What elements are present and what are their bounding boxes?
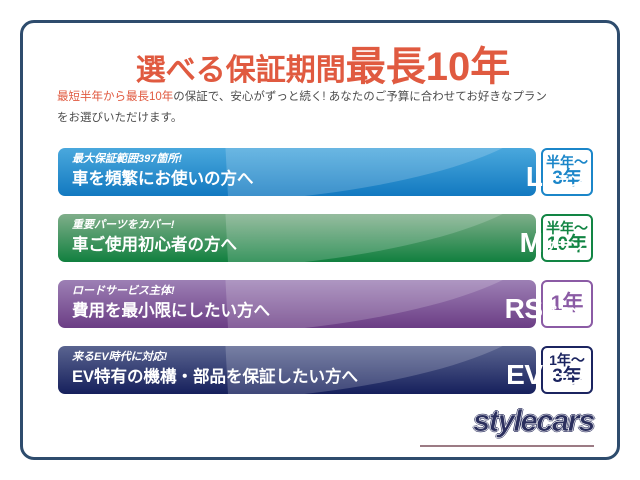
plan-code-l: L (526, 161, 543, 192)
plan-kana-ev: プラン (543, 371, 584, 387)
plan-subtitle-l: 最大保証範囲397箇所! (72, 152, 254, 168)
plan-sweep-rs (224, 280, 536, 328)
plan-text-group-rs: ロードサービス主体! 費用を最小限にしたい方へ (72, 284, 270, 324)
plan-code-ev: EV (506, 359, 542, 390)
plan-row-rs[interactable]: ロードサービス主体! 費用を最小限にしたい方へ RSプラン 1年 (58, 280, 593, 328)
plan-code-group-m: Mプラン (520, 227, 583, 259)
plan-code-group-rs: RSプラン (505, 293, 583, 325)
plan-headline-ev: EV特有の機構・部品を保証したい方へ (72, 366, 358, 390)
plan-text-group-m: 重要パーツをカバー! 車ご使用初心者の方へ (72, 218, 237, 258)
brand-logo-text: stylecars (473, 403, 594, 439)
plan-headline-rs: 費用を最小限にしたい方へ (72, 300, 270, 324)
brand-logo-rule (420, 445, 594, 447)
lead-line2: をお選びいただけます。 (57, 112, 182, 124)
plan-list: 最大保証範囲397箇所! 車を頻繁にお使いの方へ Lプラン 半年〜 3年 重要パ… (58, 148, 593, 412)
lead-paragraph: 最短半年から最長10年の保証で、安心がずっと続く! あなたのご予算に合わせてお好… (57, 87, 597, 130)
plan-row-l[interactable]: 最大保証範囲397箇所! 車を頻繁にお使いの方へ Lプラン 半年〜 3年 (58, 148, 593, 196)
plan-subtitle-ev: 来るEV時代に対応! (72, 350, 358, 366)
lead-highlight: 最短半年から最長10年 (57, 91, 173, 103)
plan-text-group-ev: 来るEV時代に対応! EV特有の機構・部品を保証したい方へ (72, 350, 358, 390)
brand-logo: stylecars (398, 403, 598, 459)
plan-code-group-l: Lプラン (526, 161, 583, 193)
plan-code-m: M (520, 227, 543, 258)
plan-kana-l: プラン (543, 173, 584, 189)
plan-subtitle-m: 重要パーツをカバー! (72, 218, 237, 234)
lead-rest: の保証で、安心がずっと続く! あなたのご予算に合わせてお好きなプラン (173, 91, 547, 103)
infographic-page: 選べる保証期間最長10年 最短半年から最長10年の保証で、安心がずっと続く! あ… (0, 0, 640, 480)
plan-kana-m: プラン (543, 239, 584, 255)
plan-code-group-ev: EVプラン (506, 359, 583, 391)
page-title-part2: 最長10年 (346, 45, 511, 89)
plan-code-rs: RS (505, 293, 543, 324)
plan-subtitle-rs: ロードサービス主体! (72, 284, 270, 300)
plan-kana-rs: プラン (543, 305, 584, 321)
page-title-part1: 選べる保証期間 (136, 54, 346, 87)
plan-sweep-l (224, 148, 536, 196)
plan-text-group-l: 最大保証範囲397箇所! 車を頻繁にお使いの方へ (72, 152, 254, 192)
outer-frame: 選べる保証期間最長10年 最短半年から最長10年の保証で、安心がずっと続く! あ… (20, 20, 620, 460)
plan-sweep-m (224, 214, 536, 262)
plan-row-m[interactable]: 重要パーツをカバー! 車ご使用初心者の方へ Mプラン 半年〜 10年 (58, 214, 593, 262)
plan-row-ev[interactable]: 来るEV時代に対応! EV特有の機構・部品を保証したい方へ EVプラン 1年〜 … (58, 346, 593, 394)
page-title: 選べる保証期間最長10年 (23, 47, 623, 87)
plan-headline-m: 車ご使用初心者の方へ (72, 234, 237, 258)
plan-headline-l: 車を頻繁にお使いの方へ (72, 168, 254, 192)
